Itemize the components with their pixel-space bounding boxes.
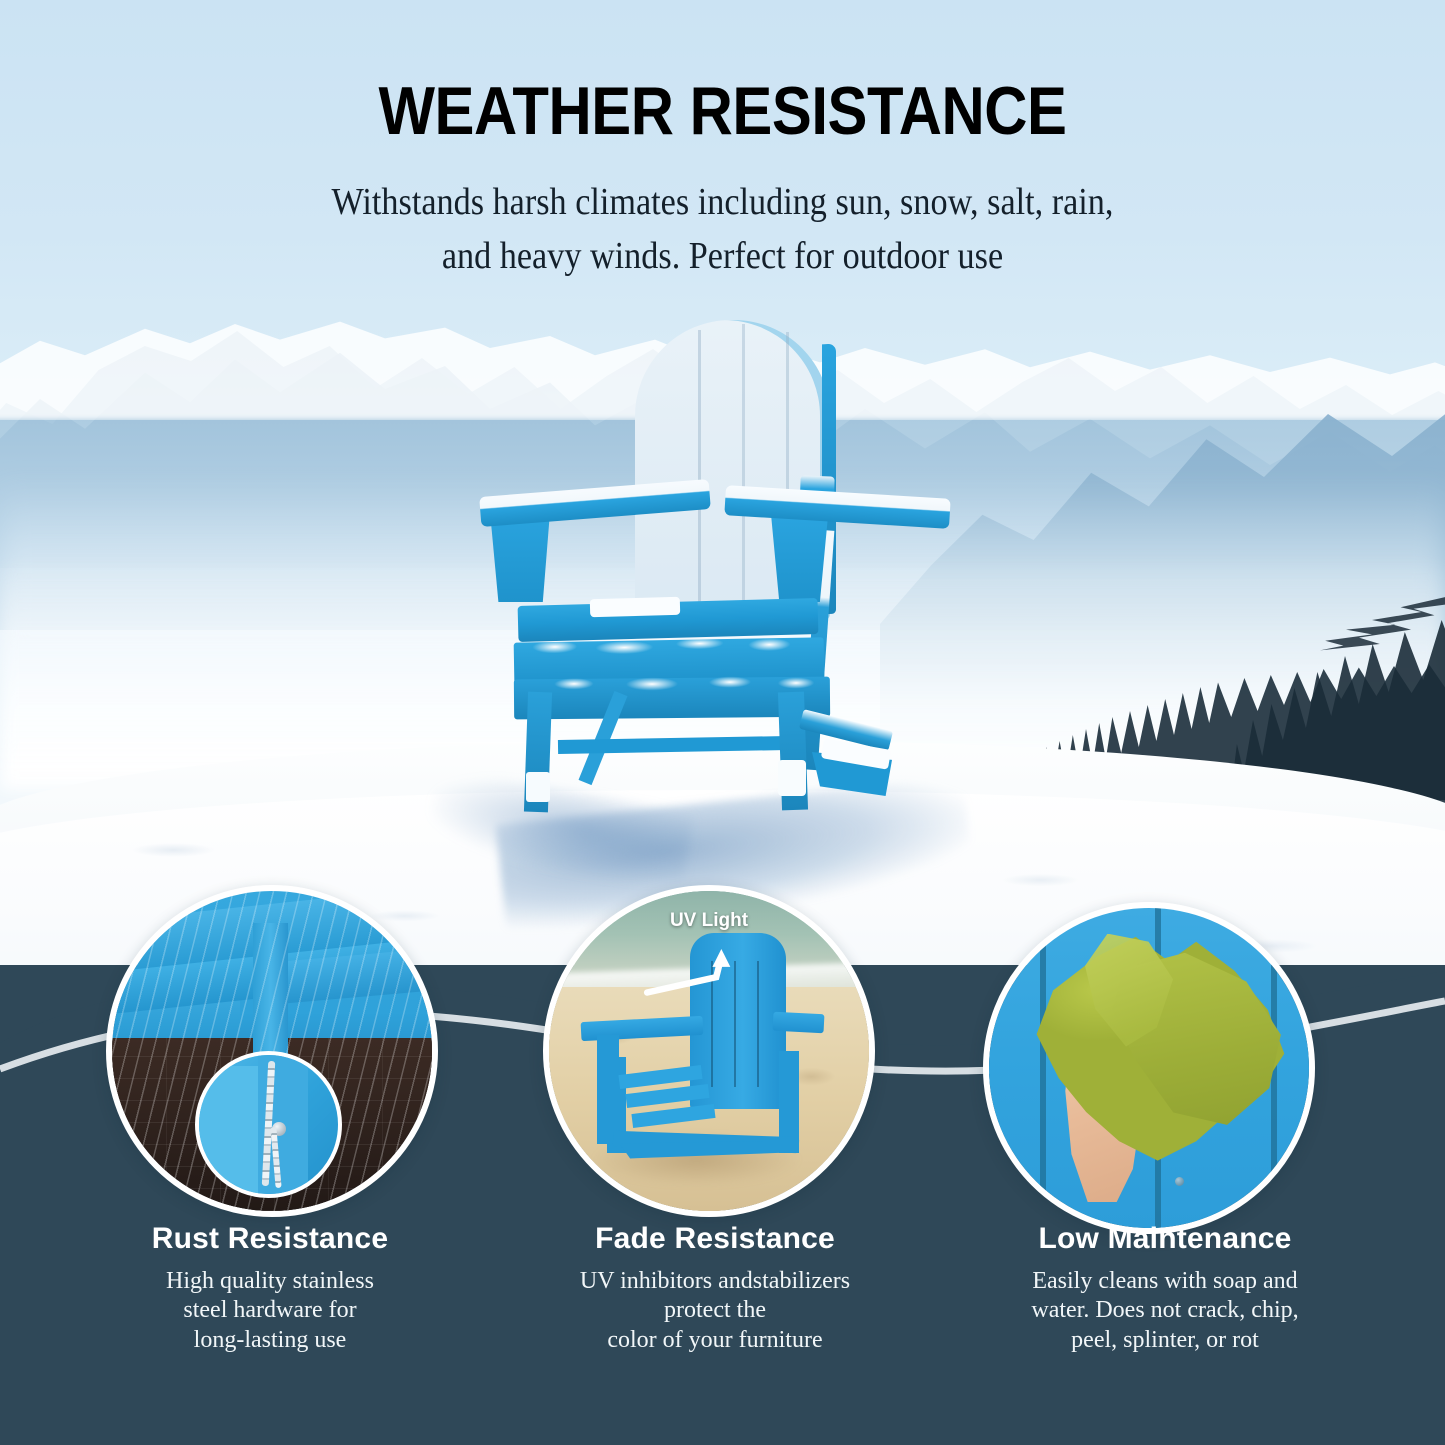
feature-card-rust-resistance: Rust Resistance High quality stainless s… (60, 1222, 480, 1355)
feature-image-rust-resistance (106, 885, 438, 1217)
feature-description: UV inhibitors andstabilizers protect the… (505, 1267, 925, 1355)
feature-image-row: UV Light (0, 880, 1445, 1220)
feature-description: High quality stainless steel hardware fo… (60, 1267, 480, 1355)
adirondack-chair-snow-icon (470, 320, 990, 850)
page-subtitle: Withstands harsh climates including sun,… (72, 176, 1373, 284)
feature-image-low-maintenance (983, 902, 1315, 1234)
header: WEATHER RESISTANCE Withstands harsh clim… (0, 0, 1445, 284)
feature-text-row: Rust Resistance High quality stainless s… (0, 1222, 1445, 1422)
feature-card-fade-resistance: Fade Resistance UV inhibitors andstabili… (505, 1222, 925, 1355)
feature-card-low-maintenance: Low Maintenance Easily cleans with soap … (955, 1222, 1375, 1355)
uv-light-arrow-icon (642, 949, 770, 1000)
feature-title: Fade Resistance (505, 1222, 925, 1256)
feature-title: Rust Resistance (60, 1222, 480, 1256)
uv-light-label: UV Light (670, 910, 748, 932)
infographic-root: UV Light Rust Resistance High quality st… (0, 0, 1445, 1445)
stainless-chain-inset (195, 1051, 342, 1198)
feature-description: Easily cleans with soap and water. Does … (955, 1267, 1375, 1355)
feature-image-fade-resistance: UV Light (543, 885, 875, 1217)
page-title: WEATHER RESISTANCE (87, 72, 1359, 150)
feature-title: Low Maintenance (955, 1222, 1375, 1256)
